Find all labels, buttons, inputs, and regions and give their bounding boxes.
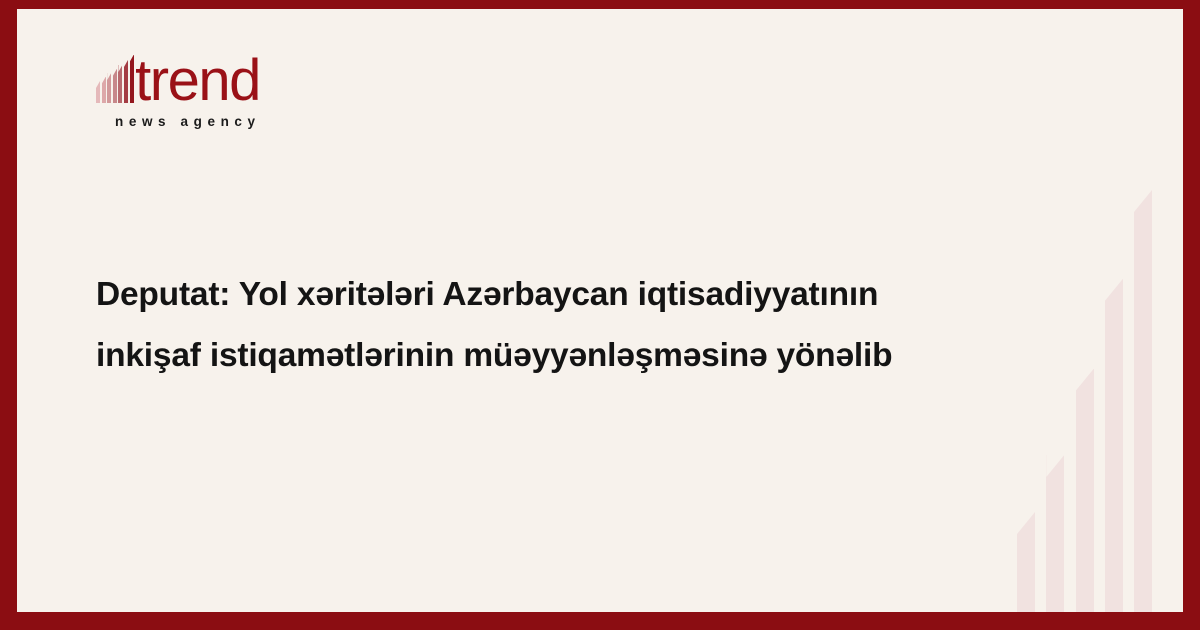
social-card: trend news agency Deputat: Yol xəritələr… — [0, 0, 1200, 630]
headline-line: inkişaf istiqamətlərinin müəyyənləşməsin… — [96, 325, 1001, 386]
logo-mark-bar — [107, 73, 111, 103]
page-title: Deputat: Yol xəritələri Azərbaycan iqtis… — [96, 264, 1001, 386]
decoration-bar — [1046, 455, 1064, 612]
headline-line: Deputat: Yol xəritələri Azərbaycan iqtis… — [96, 264, 1001, 325]
logo-wordmark: trend — [135, 57, 260, 105]
decoration-bar — [1017, 512, 1035, 612]
logo-tagline: news agency — [115, 114, 336, 129]
decoration-bar — [1134, 190, 1152, 612]
logo-row: trend — [96, 43, 336, 105]
ascending-bars-decoration — [1017, 152, 1152, 612]
logo-mark-bar — [96, 81, 100, 103]
card-canvas: trend news agency Deputat: Yol xəritələr… — [17, 9, 1183, 612]
logo-mark-bar — [118, 65, 122, 103]
logo-mark-bar — [130, 55, 134, 103]
logo-mark-bar — [102, 77, 106, 103]
ascending-bars-icon — [96, 55, 135, 103]
logo-mark-bar — [124, 60, 128, 103]
logo-mark-bar — [113, 69, 117, 103]
decoration-bar — [1076, 369, 1094, 612]
brand-logo[interactable]: trend news agency — [96, 43, 336, 129]
decoration-bar — [1105, 279, 1123, 612]
